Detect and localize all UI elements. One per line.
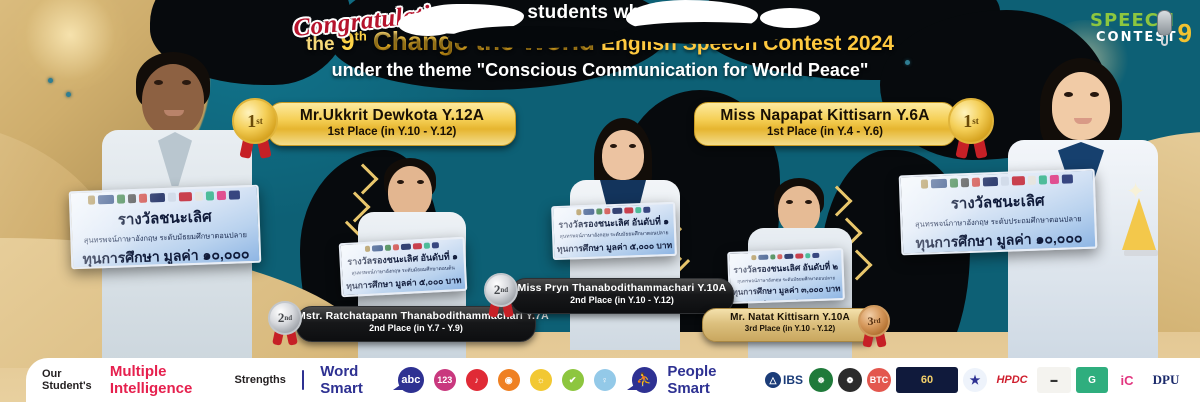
footer-suffix: Strengths xyxy=(235,374,286,386)
medal-rank-label: 2nd xyxy=(268,301,302,335)
dpu-logo[interactable]: DPU xyxy=(1146,367,1186,393)
certificate-board-natat: รางวัลรองชนะเลิศ อันดับที่ ๒ สุนทรพจน์ภา… xyxy=(727,248,845,304)
award-place: 2nd Place (in Y.7 - Y.9) xyxy=(297,323,535,333)
anniversary-60-logo[interactable]: 60 xyxy=(896,367,958,393)
certificate-board-pryn: รางวัลรองชนะเลิศ อันดับที่ ๑ สุนทรพจน์ภา… xyxy=(551,202,677,260)
medal-silver-ratchatapann: 2nd xyxy=(266,300,306,348)
award-place: 1st Place (in Y.10 - Y.12) xyxy=(269,126,515,138)
hpdc-logo[interactable]: HPDC xyxy=(992,367,1032,393)
partner-logo[interactable]: ▬ xyxy=(1037,367,1071,393)
medal-rank-label: 2nd xyxy=(484,273,518,307)
award-place: 1st Place (in Y.4 - Y.6) xyxy=(695,126,955,138)
award-plate-natat[interactable]: Mr. Natat Kittisarn Y.10A 3rd Place (in … xyxy=(702,308,878,342)
award-plate-napapat[interactable]: Miss Napapat Kittisarn Y.6A 1st Place (i… xyxy=(694,102,956,146)
footer-highlight: Multiple Intelligence xyxy=(110,363,225,397)
footer-prefix: Our Student's xyxy=(42,368,100,392)
award-name: Mr.Ukkrit Dewkota Y.12A xyxy=(269,107,515,125)
medal-rank-label: 1st xyxy=(948,98,994,144)
picture-smart-icon[interactable]: ◉ xyxy=(498,369,520,391)
headline-theme: under the theme "Conscious Communication… xyxy=(0,60,1200,81)
award-place: 2nd Place (in Y.10 - Y.12) xyxy=(511,295,733,305)
ibs-logo[interactable]: △ IBS xyxy=(764,367,804,393)
medal-silver-pryn: 2nd xyxy=(482,272,522,320)
certificate-board-left: รางวัลชนะเลิศ สุนทรพจน์ภาษาอังกฤษ ระดับม… xyxy=(69,185,262,270)
sponsor-logo-row: △ IBS ☸ ❁ BTC 60 ★ HPDC ▬ G iC DPU xyxy=(764,367,1190,393)
medal-rank-label: 1st xyxy=(232,98,278,144)
board-title: รางวัลชนะเลิศ xyxy=(71,203,258,233)
medal-rank-label: 3rd xyxy=(858,305,890,337)
green-partner-logo[interactable]: G xyxy=(1076,367,1108,393)
music-smart-icon[interactable]: ♪ xyxy=(466,369,488,391)
people-smart-label: People Smart xyxy=(667,363,744,397)
speech-contest-logo: SPEECH CONTEST 9 xyxy=(1090,4,1194,58)
redaction-overlay xyxy=(760,8,820,28)
word-smart-label: Word Smart xyxy=(320,363,388,397)
award-name: Miss Napapat Kittisarn Y.6A xyxy=(695,107,955,125)
people-smart-icon[interactable]: ⛹ xyxy=(632,367,658,393)
award-plate-ukkrit[interactable]: Mr.Ukkrit Dewkota Y.12A 1st Place (in Y.… xyxy=(268,102,516,146)
award-name: Mr. Natat Kittisarn Y.10A xyxy=(703,312,877,323)
award-plate-pryn[interactable]: Miss Pryn Thanabodithammachari Y.10A 2nd… xyxy=(510,278,734,314)
word-smart-icon[interactable]: abc xyxy=(398,367,424,393)
redaction-overlay xyxy=(614,22,794,44)
award-place: 3rd Place (in Y.10 - Y.12) xyxy=(703,324,877,333)
footer-bar: Our Student's Multiple Intelligence Stre… xyxy=(26,358,1200,402)
footer-divider xyxy=(302,370,304,390)
medal-bronze-natat: 3rd xyxy=(856,304,894,350)
redaction-overlay xyxy=(398,12,458,36)
trophy-icon: ✦ xyxy=(1118,182,1164,262)
microphone-stand-icon xyxy=(1161,35,1168,46)
decor-sparkle xyxy=(66,92,71,97)
number-smart-icon[interactable]: 123 xyxy=(434,369,456,391)
self-smart-icon[interactable]: ♀ xyxy=(594,369,616,391)
star-seal-logo[interactable]: ★ xyxy=(963,368,987,392)
certificate-board-right: รางวัลชนะเลิศ สุนทรพจน์ภาษาอังกฤษ ระดับป… xyxy=(899,169,1098,256)
medal-gold-napapat: 1st xyxy=(946,96,998,162)
btc-logo[interactable]: BTC xyxy=(867,368,891,392)
logo-edition-number: 9 xyxy=(1178,18,1192,49)
ic-logo[interactable]: iC xyxy=(1113,367,1141,393)
award-name: Miss Pryn Thanabodithammachari Y.10A xyxy=(511,282,733,294)
garuda-seal-logo[interactable]: ❁ xyxy=(838,368,862,392)
banner-root: รางวัลชนะเลิศ สุนทรพจน์ภาษาอังกฤษ ระดับม… xyxy=(0,0,1200,402)
certificate-board-ratchatapann: รางวัลรองชนะเลิศ อันดับที่ ๑ สุนทรพจน์ภา… xyxy=(339,237,468,298)
body-smart-icon[interactable]: ☼ xyxy=(530,369,552,391)
nature-smart-icon[interactable]: ✔ xyxy=(562,369,584,391)
medal-gold-ukkrit: 1st xyxy=(230,96,282,162)
ministry-seal-logo[interactable]: ☸ xyxy=(809,368,833,392)
microphone-icon xyxy=(1157,10,1172,36)
